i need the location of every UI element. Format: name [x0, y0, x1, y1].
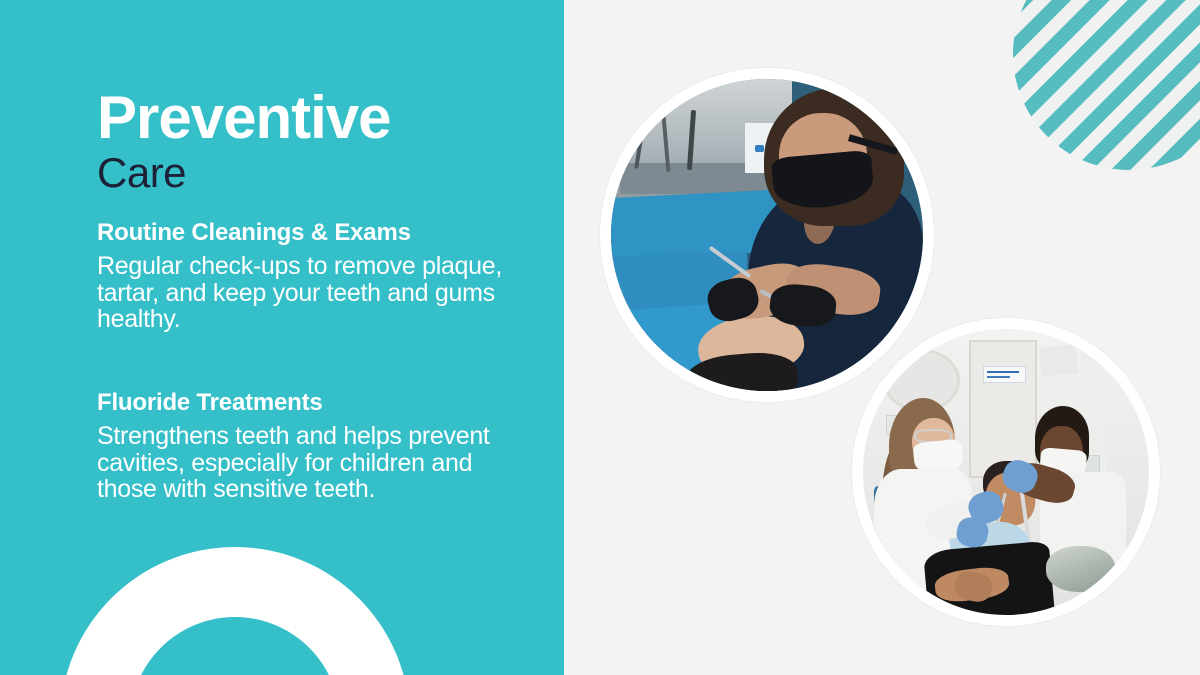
- striped-circle-decoration: [1013, 0, 1200, 170]
- title-sub-text: Care: [97, 150, 537, 196]
- section-heading: Routine Cleanings & Exams: [97, 218, 527, 248]
- section-body: Regular check-ups to remove plaque, tart…: [97, 253, 527, 333]
- section-fluoride-treatments: Fluoride Treatments Strengthens teeth an…: [97, 388, 527, 503]
- section-routine-cleanings: Routine Cleanings & Exams Regular check-…: [97, 218, 527, 333]
- photo-circle-bottom: [852, 318, 1160, 626]
- page-title: Preventive Care: [97, 88, 537, 196]
- slide-canvas: Preventive Care Routine Cleanings & Exam…: [0, 0, 1200, 675]
- section-heading: Fluoride Treatments: [97, 388, 527, 418]
- section-body: Strengthens teeth and helps prevent cavi…: [97, 423, 527, 503]
- photo-two-clinicians-treating-patient: [863, 329, 1149, 615]
- photo-illustration: [863, 329, 1149, 615]
- title-main-text: Preventive: [97, 88, 537, 148]
- teal-content-panel: Preventive Care Routine Cleanings & Exam…: [0, 0, 564, 675]
